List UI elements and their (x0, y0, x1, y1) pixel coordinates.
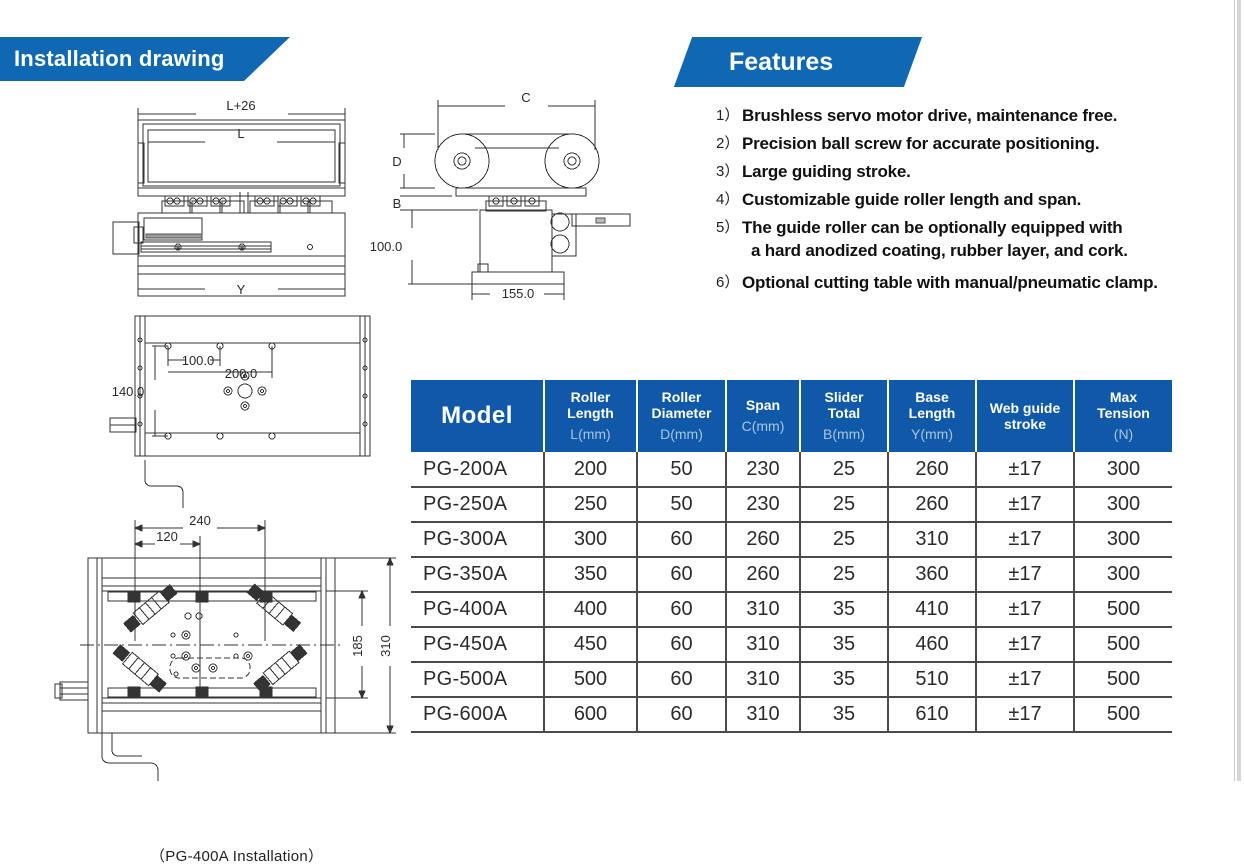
dim-label-base-length: Y (237, 282, 246, 297)
feature-number: 1） (716, 104, 742, 127)
cell-max-tension: 500 (1074, 592, 1172, 627)
cell-slider-total: 25 (800, 452, 888, 487)
column-header-span: Span C(mm) (726, 380, 800, 452)
cell-slider-total: 35 (800, 662, 888, 697)
column-header-slider-total: Slider Total B(mm) (800, 380, 888, 452)
cell-span: 310 (726, 592, 800, 627)
cell-span: 260 (726, 522, 800, 557)
feature-text: Customizable guide roller length and spa… (742, 190, 1081, 209)
cell-base-length: 260 (888, 487, 976, 522)
front-view-drawing (113, 108, 345, 296)
drawing-caption: （PG-400A Installation） (150, 845, 323, 866)
cell-span: 310 (726, 697, 800, 732)
dim-label-diameter: D (392, 154, 401, 169)
cell-web-guide-stroke: ±17 (976, 627, 1074, 662)
cell-web-guide-stroke: ±17 (976, 452, 1074, 487)
dim-label-width-155: 155.0 (502, 286, 535, 301)
page-scrollbar[interactable] (1234, 0, 1244, 781)
cell-max-tension: 300 (1074, 522, 1172, 557)
dim-label-slider: B (393, 196, 402, 211)
cell-span: 310 (726, 627, 800, 662)
header-unit: C(mm) (729, 417, 797, 435)
column-header-max-tension: Max Tension (N) (1074, 380, 1172, 452)
feature-number: 6） (716, 271, 742, 294)
dim-label-240: 240 (189, 513, 211, 528)
dim-label-120: 120 (156, 529, 178, 544)
feature-number: 4） (716, 188, 742, 211)
cell-base-length: 510 (888, 662, 976, 697)
header-label: Slider Total (803, 389, 885, 421)
cell-max-tension: 300 (1074, 487, 1172, 522)
side-view-drawing (400, 100, 630, 300)
dim-label-plan-140: 140.0 (112, 384, 145, 399)
dim-label-plan-100: 100.0 (182, 353, 215, 368)
banner-wedge (244, 37, 290, 81)
feature-text: Precision ball screw for accurate positi… (742, 134, 1099, 153)
header-label: Span (729, 397, 797, 413)
column-header-web-guide-stroke: Web guide stroke (976, 380, 1074, 452)
cell-base-length: 610 (888, 697, 976, 732)
header-unit: Y(mm) (891, 425, 973, 443)
header-unit: (N) (1077, 425, 1170, 443)
cell-max-tension: 500 (1074, 697, 1172, 732)
cell-base-length: 310 (888, 522, 976, 557)
dim-label-height-100: 100.0 (370, 239, 403, 254)
cell-web-guide-stroke: ±17 (976, 557, 1074, 592)
cell-web-guide-stroke: ±17 (976, 592, 1074, 627)
cell-span: 230 (726, 487, 800, 522)
cell-web-guide-stroke: ±17 (976, 662, 1074, 697)
drawings-svg: L+26 L Y C D B 100.0 155.0 100.0 200.0 1… (0, 88, 680, 781)
dim-label-span: C (521, 90, 530, 105)
cell-slider-total: 35 (800, 697, 888, 732)
cell-base-length: 260 (888, 452, 976, 487)
features-list: 1） Brushless servo motor drive, maintena… (716, 104, 1240, 299)
header-unit: B(mm) (803, 425, 885, 443)
cell-max-tension: 300 (1074, 452, 1172, 487)
dim-label-plan-200: 200.0 (225, 366, 258, 381)
installation-drawing-title: Installation drawing (14, 37, 225, 81)
dim-label-overall-length: L+26 (226, 98, 255, 113)
cell-web-guide-stroke: ±17 (976, 487, 1074, 522)
dim-label-310: 310 (378, 635, 393, 657)
scrollbar-track[interactable] (1237, 0, 1241, 781)
features-title: Features (729, 37, 833, 87)
feature-text-line2: a hard anodized coating, rubber layer, a… (742, 239, 1128, 262)
feature-text: Large guiding stroke. (742, 162, 911, 181)
cell-slider-total: 35 (800, 627, 888, 662)
bottom-view-drawing (55, 520, 396, 781)
cell-slider-total: 25 (800, 487, 888, 522)
feature-item: 2） Precision ball screw for accurate pos… (716, 132, 1240, 155)
cell-max-tension: 500 (1074, 627, 1172, 662)
plan-view-drawing (110, 316, 370, 508)
column-header-base-length: Base Length Y(mm) (888, 380, 976, 452)
header-label: Max Tension (1077, 389, 1170, 421)
cell-base-length: 410 (888, 592, 976, 627)
feature-number: 3） (716, 160, 742, 183)
cell-span: 310 (726, 662, 800, 697)
header-label: Web guide stroke (979, 400, 1071, 432)
cell-slider-total: 35 (800, 592, 888, 627)
feature-text: Brushless servo motor drive, maintenance… (742, 106, 1117, 125)
feature-text: Optional cutting table with manual/pneum… (742, 273, 1158, 292)
cell-max-tension: 300 (1074, 557, 1172, 592)
feature-number: 2） (716, 132, 742, 155)
cell-web-guide-stroke: ±17 (976, 697, 1074, 732)
cell-web-guide-stroke: ±17 (976, 522, 1074, 557)
cell-base-length: 360 (888, 557, 976, 592)
header-label: Base Length (891, 389, 973, 421)
features-banner: Features (683, 37, 913, 87)
installation-drawing-banner: Installation drawing (0, 37, 290, 81)
feature-text: The guide roller can be optionally equip… (742, 218, 1123, 237)
feature-item: 3） Large guiding stroke. (716, 160, 1240, 183)
cell-span: 260 (726, 557, 800, 592)
feature-number: 5） (716, 216, 742, 239)
cell-span: 230 (726, 452, 800, 487)
feature-item: 1） Brushless servo motor drive, maintena… (716, 104, 1240, 127)
feature-item: 6） Optional cutting table with manual/pn… (716, 271, 1240, 294)
cell-slider-total: 25 (800, 522, 888, 557)
cell-base-length: 460 (888, 627, 976, 662)
dim-label-roller-length: L (237, 126, 244, 141)
cell-max-tension: 500 (1074, 662, 1172, 697)
dim-label-185: 185 (350, 635, 365, 657)
technical-drawings: L+26 L Y C D B 100.0 155.0 100.0 200.0 1… (0, 88, 680, 781)
cell-slider-total: 25 (800, 557, 888, 592)
feature-item: 4） Customizable guide roller length and … (716, 188, 1240, 211)
feature-item: 5） The guide roller can be optionally eq… (716, 216, 1240, 262)
